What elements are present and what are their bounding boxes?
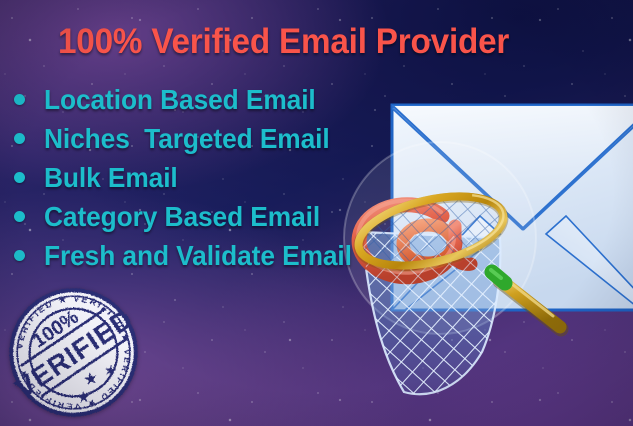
at-symbol-graphic <box>358 201 471 277</box>
page-title: 100% Verified Email Provider <box>58 22 509 62</box>
bullet-dot-icon <box>14 94 25 105</box>
bullet-dot-icon <box>14 250 25 261</box>
list-item: Fresh and Validate Email <box>14 236 372 275</box>
list-item-label: Category Based Email <box>44 201 320 233</box>
bullet-dot-icon <box>14 133 25 144</box>
verified-stamp-badge: VERIFIED ★ VERIFIED ★ VERIFIED ★ VERIFIE… <box>8 287 139 418</box>
list-item: Bulk Email <box>14 158 372 197</box>
svg-text:★: ★ <box>76 389 91 407</box>
bullet-dot-icon <box>14 172 25 183</box>
list-item: Category Based Email <box>14 197 372 236</box>
list-item: Niches Targeted Email <box>14 119 372 158</box>
stamp-ink-group: VERIFIED ★ VERIFIED ★ VERIFIED ★ VERIFIE… <box>8 290 139 416</box>
list-item-label: Location Based Email <box>44 84 316 116</box>
list-item-label: Bulk Email <box>44 162 178 194</box>
list-item: Location Based Email <box>14 80 372 119</box>
email-service-promo-banner: 100% Verified Email Provider Location Ba… <box>0 0 633 426</box>
feature-list: Location Based Email Niches Targeted Ema… <box>14 80 372 275</box>
net-handle <box>491 270 561 329</box>
net-rim <box>352 182 510 279</box>
list-item-label: Fresh and Validate Email <box>44 240 352 272</box>
net-opening-mesh <box>350 195 520 275</box>
svg-text:★: ★ <box>102 362 118 380</box>
bullet-dot-icon <box>14 211 25 222</box>
envelope-graphic <box>344 105 633 334</box>
list-item-label: Niches Targeted Email <box>44 123 330 155</box>
net-ferrule <box>492 272 505 283</box>
